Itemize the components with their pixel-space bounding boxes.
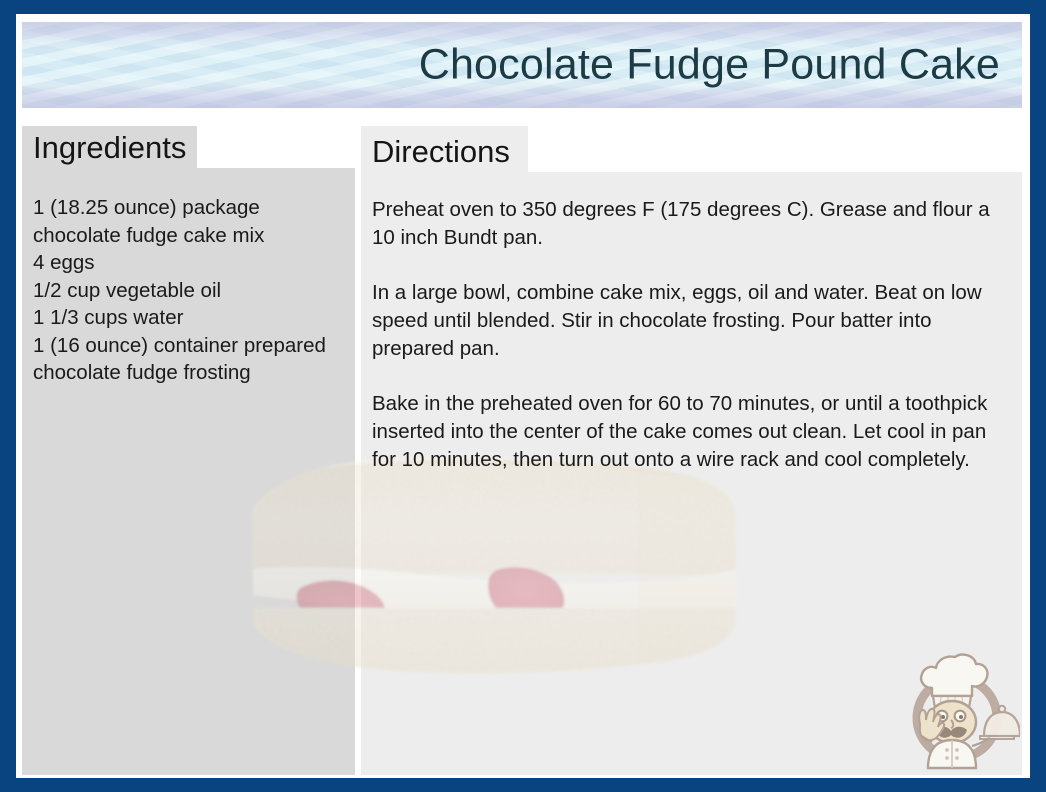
- direction-step: In a large bowl, combine cake mix, eggs,…: [372, 279, 1008, 363]
- ingredients-list: 1 (18.25 ounce) package chocolate fudge …: [22, 194, 355, 387]
- ingredients-tab-notch: [197, 126, 355, 168]
- direction-step: Bake in the preheated oven for 60 to 70 …: [372, 390, 1008, 474]
- ingredients-panel: Ingredients 1 (18.25 ounce) package choc…: [22, 126, 355, 775]
- directions-tab-notch: [528, 126, 1022, 172]
- list-item: 1 (16 ounce) container prepared: [33, 332, 345, 360]
- directions-steps: Preheat oven to 350 degrees F (175 degre…: [361, 196, 1022, 474]
- direction-step: Preheat oven to 350 degrees F (175 degre…: [372, 196, 1008, 252]
- chef-mascot-logo: [902, 650, 1020, 770]
- list-item: 4 eggs: [33, 249, 345, 277]
- list-item: chocolate fudge frosting: [33, 359, 345, 387]
- title-banner: Chocolate Fudge Pound Cake: [22, 22, 1022, 108]
- list-item: 1 (18.25 ounce) package: [33, 194, 345, 222]
- ingredients-heading: Ingredients: [22, 126, 186, 166]
- list-item: 1/2 cup vegetable oil: [33, 277, 345, 305]
- directions-heading: Directions: [361, 126, 510, 170]
- list-item: 1 1/3 cups water: [33, 304, 345, 332]
- page-title: Chocolate Fudge Pound Cake: [419, 41, 1000, 90]
- recipe-card: Chocolate Fudge Pound Cake Ingredients 1…: [0, 0, 1046, 792]
- list-item: chocolate fudge cake mix: [33, 222, 345, 250]
